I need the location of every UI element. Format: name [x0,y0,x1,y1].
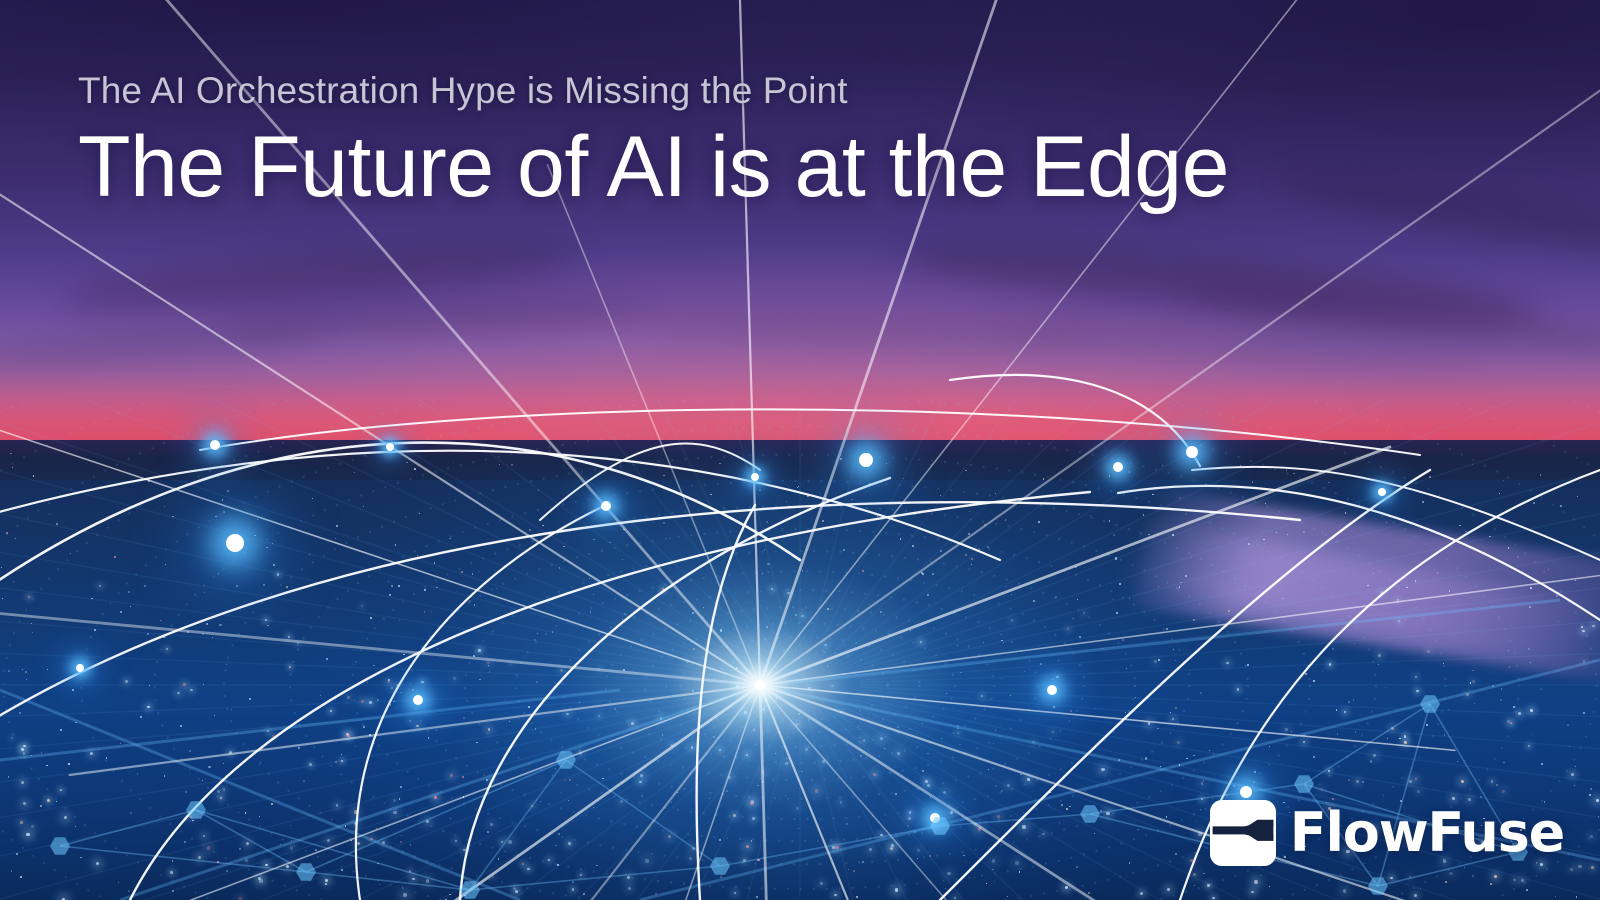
network-node [226,534,244,552]
network-node [751,473,759,481]
network-node [76,664,84,672]
network-arc [460,478,890,900]
network-arc [1192,467,1600,560]
network-arc [950,375,1200,466]
brand-wordmark: FlowFuse [1290,806,1564,860]
network-node [413,695,423,705]
network-node [210,440,220,450]
hero-title: The Future of AI is at the Edge [78,119,1498,215]
network-arc [0,443,800,600]
flowfuse-logo-icon [1210,800,1276,866]
network-core-star [755,680,765,690]
network-node [601,501,611,511]
hero-subtitle: The AI Orchestration Hype is Missing the… [78,72,1498,111]
brand-logo[interactable]: FlowFuse [1210,800,1564,866]
network-arc [0,502,1300,740]
hero-banner: The AI Orchestration Hype is Missing the… [0,0,1600,900]
network-arc [1118,486,1600,620]
network-arc [130,492,1090,900]
network-arc [200,409,1420,455]
network-node [1186,446,1198,458]
network-node [1378,488,1386,496]
network-node [386,443,394,451]
network-node [1047,685,1057,695]
network-node [1113,462,1123,472]
network-node [859,453,873,467]
headline-block: The AI Orchestration Hype is Missing the… [78,72,1498,215]
network-node [1240,786,1252,798]
